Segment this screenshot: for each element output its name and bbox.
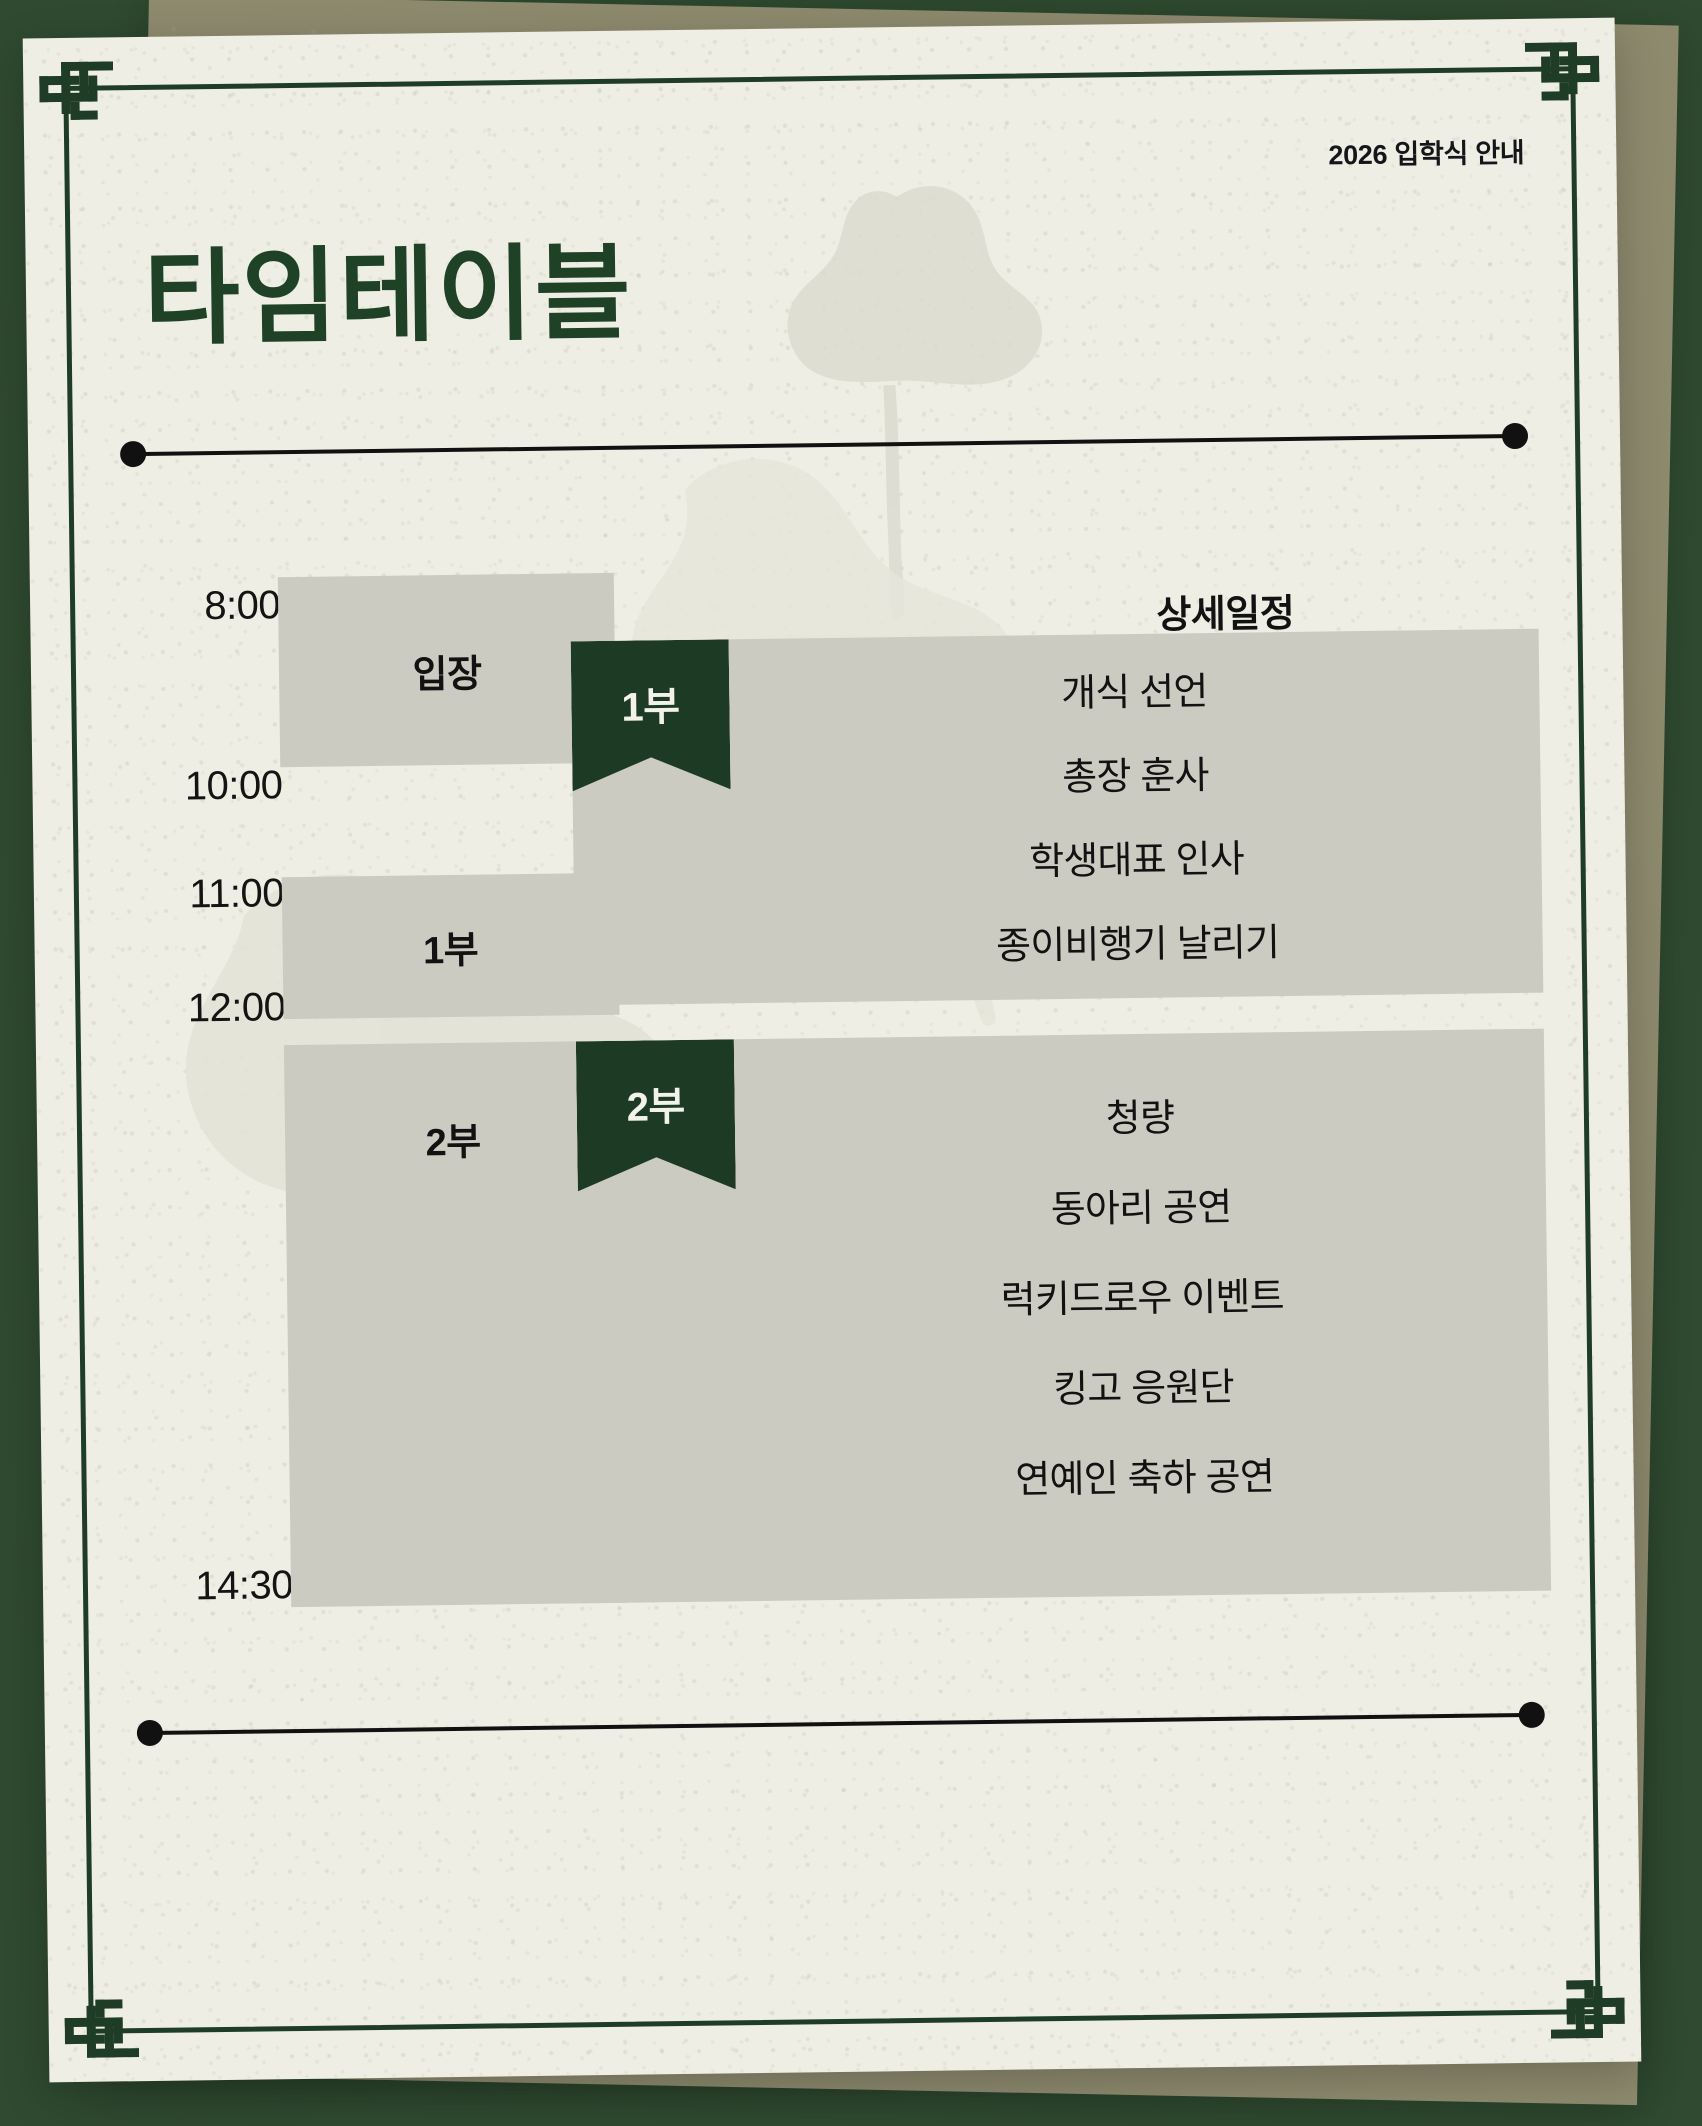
detail-item: 학생대표 인사: [731, 837, 1541, 886]
detail-item: 럭키드로우 이벤트: [737, 1275, 1547, 1324]
ribbon-badge-label: 2부: [626, 1074, 685, 1133]
poster-content: 2026 입학식 안내 타임테이블 8:00 10:00 11:00 12:00…: [23, 18, 1642, 2083]
dot-icon: [1519, 1702, 1545, 1728]
schedule-block-label: 입장: [412, 642, 482, 698]
page-title: 타임테이블: [143, 240, 633, 350]
schedule-block-label: 2부: [425, 1111, 481, 1167]
time-label: 14:30: [103, 1563, 294, 1610]
divider-line: [150, 1713, 1532, 1735]
time-label: 12:00: [95, 985, 286, 1032]
dot-icon: [1502, 423, 1528, 449]
schedule-block-part2[interactable]: 2부: [284, 1041, 627, 1607]
divider-line: [133, 434, 1515, 456]
ribbon-badge-label: 1부: [621, 674, 680, 733]
schedule-block-label: 1부: [423, 918, 479, 974]
time-label: 11:00: [94, 871, 285, 918]
schedule-block-part1[interactable]: 1부: [282, 873, 620, 1019]
schedule-block-entry[interactable]: 입장: [278, 573, 616, 767]
detail-item: 총장 훈사: [730, 753, 1540, 802]
detail-list-part1: 개식 선언 총장 훈사 학생대표 인사 종이비행기 날리기: [729, 669, 1543, 970]
time-label: 10:00: [92, 763, 283, 810]
divider-bottom: [137, 1702, 1545, 1746]
poster-canvas: 2026 입학식 안내 타임테이블 8:00 10:00 11:00 12:00…: [0, 0, 1702, 2126]
event-kicker: 2026 입학식 안내: [1328, 131, 1524, 173]
main-paper-sheet: 2026 입학식 안내 타임테이블 8:00 10:00 11:00 12:00…: [23, 18, 1642, 2083]
detail-list-part2: 청량 동아리 공연 럭키드로우 이벤트 킹고 응원단 연예인 축하 공연: [735, 1095, 1550, 1504]
divider-top: [120, 423, 1528, 467]
detail-item: 킹고 응원단: [738, 1365, 1548, 1414]
time-label: 8:00: [90, 583, 281, 630]
detail-item: 동아리 공연: [736, 1185, 1546, 1234]
